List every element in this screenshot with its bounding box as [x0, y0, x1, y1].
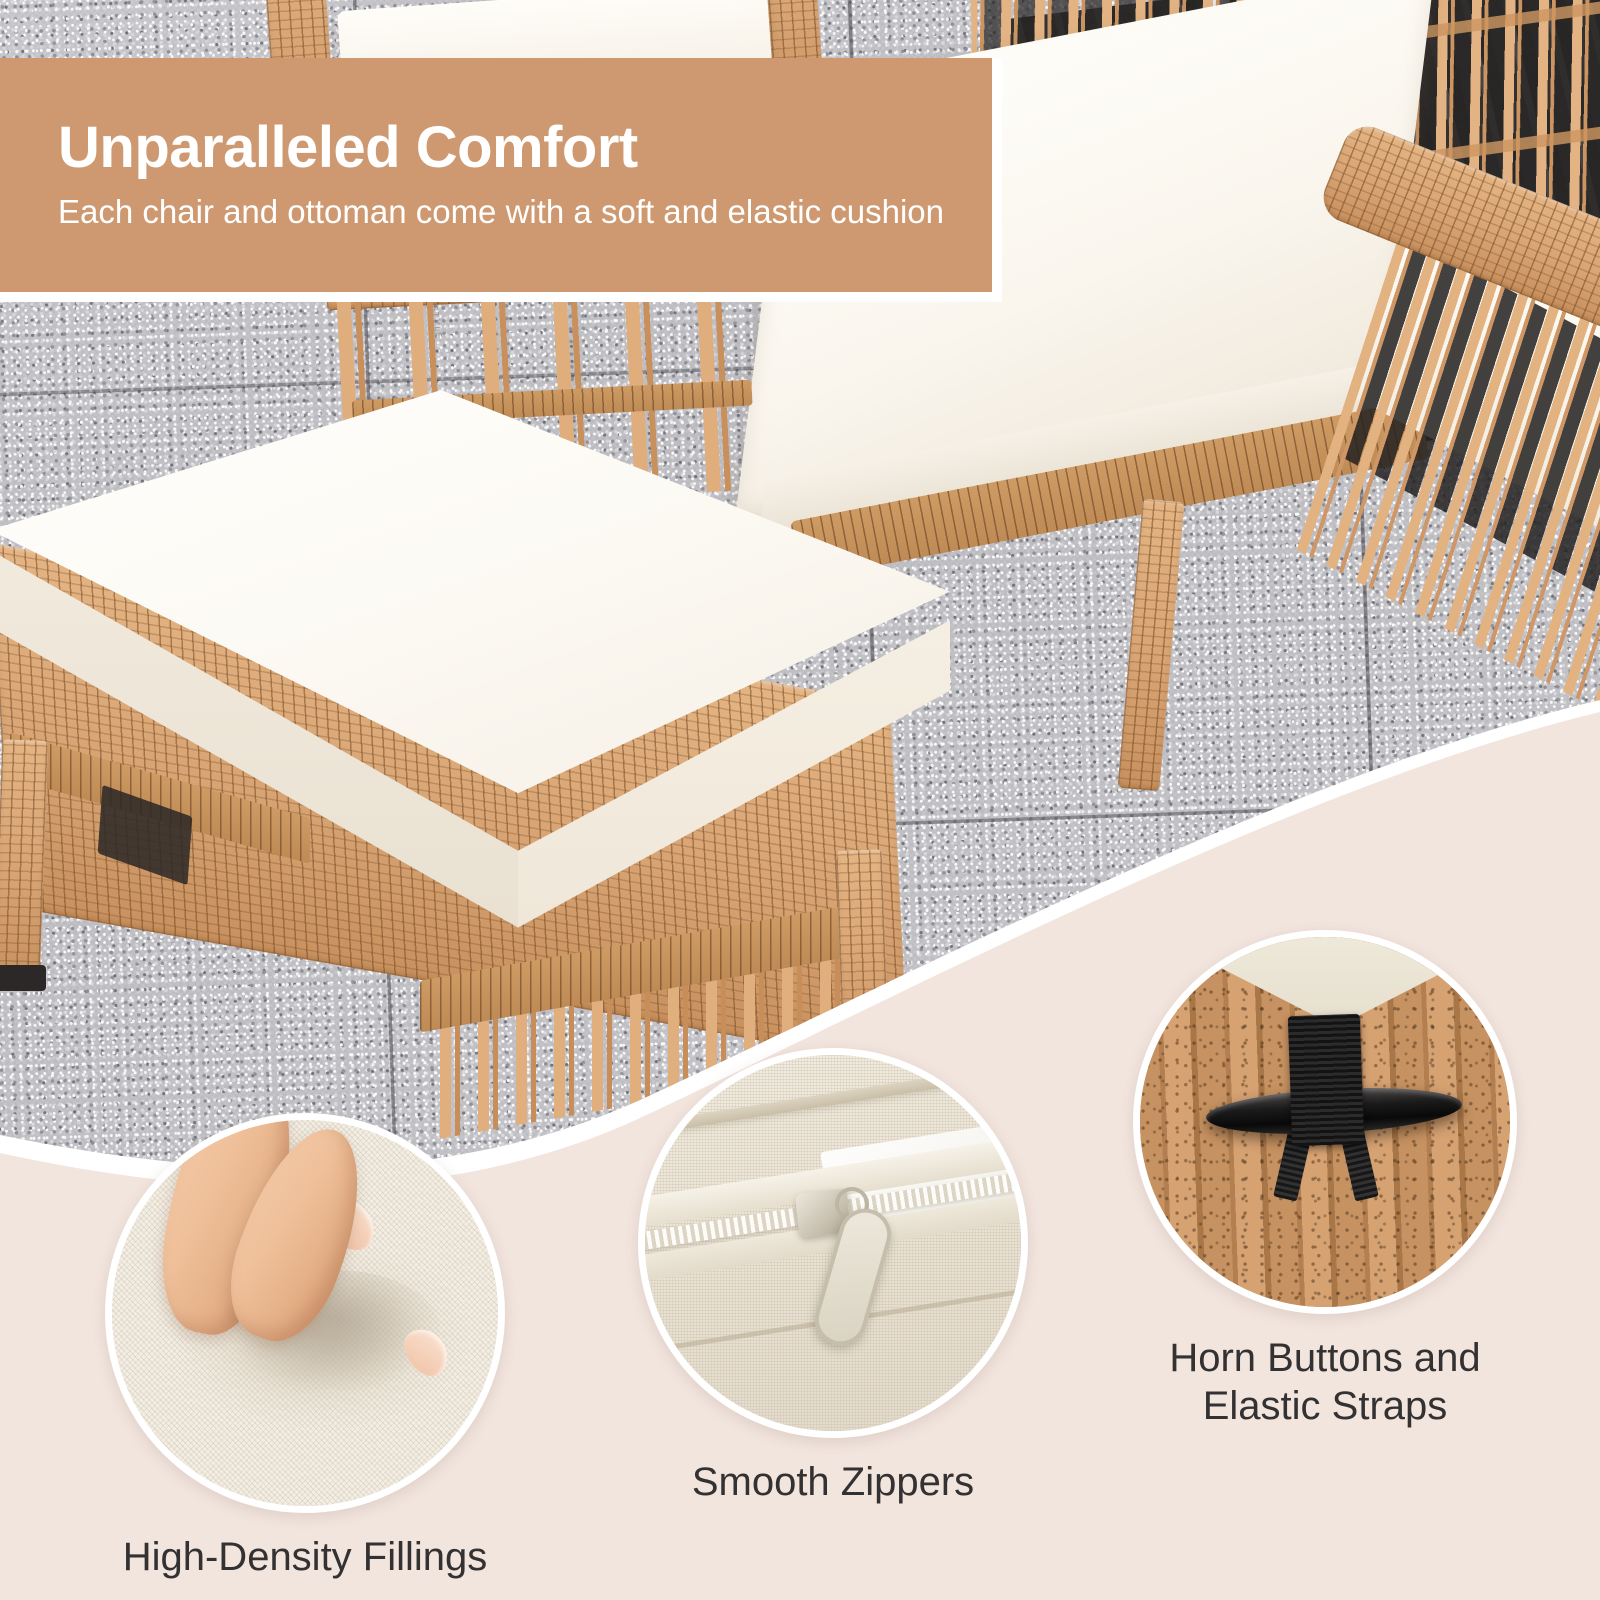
ottoman-foot-cap: [0, 965, 46, 991]
feature-image-smooth-zippers: [638, 1048, 1028, 1438]
marketing-banner-page: TRAVEL & STYLE Unparalleled Comfort Eac: [0, 0, 1600, 1600]
elastic-strap-loop: [1288, 1014, 1364, 1146]
page-subtitle: Each chair and ottoman come with a soft …: [58, 191, 952, 233]
feature-caption-high-density-fillings: High-Density Fillings: [105, 1533, 505, 1581]
feature-high-density-fillings: High-Density Fillings: [105, 1113, 505, 1581]
feature-caption-smooth-zippers: Smooth Zippers: [638, 1458, 1028, 1506]
headline-banner-inner: Unparalleled Comfort Each chair and otto…: [0, 58, 992, 292]
feature-image-high-density-fillings: [105, 1113, 505, 1513]
armchair-front-leg: [1117, 499, 1184, 792]
feature-horn-buttons-elastic-straps: Horn Buttons and Elastic Straps: [1133, 930, 1517, 1430]
feature-image-horn-buttons: [1133, 930, 1517, 1314]
headline-banner: Unparalleled Comfort Each chair and otto…: [0, 58, 1002, 302]
feature-smooth-zippers: Smooth Zippers: [638, 1048, 1028, 1506]
page-title: Unparalleled Comfort: [58, 118, 952, 177]
feature-caption-horn-buttons: Horn Buttons and Elastic Straps: [1133, 1334, 1517, 1430]
ottoman-leg-left: [0, 739, 48, 980]
